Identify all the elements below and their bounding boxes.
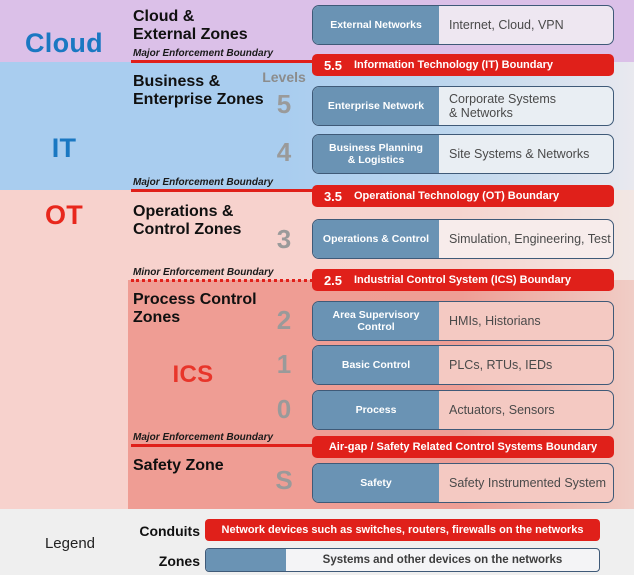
level-number-3: 3 — [255, 224, 313, 255]
conduit-label: Operational Technology (OT) Boundary — [354, 190, 559, 202]
conduit-label: Information Technology (IT) Boundary — [354, 59, 553, 71]
enforcement-label-ics-safety: Major Enforcement Boundary — [133, 432, 273, 443]
conduit-airgap-boundary[interactable]: Air-gap / Safety Related Control Systems… — [312, 436, 614, 458]
conduit-ot-boundary[interactable]: 3.5 Operational Technology (OT) Boundary — [312, 185, 614, 207]
legend-key-conduits: Conduits — [128, 523, 200, 539]
level-number-s: S — [255, 465, 313, 496]
conduit-ics-boundary[interactable]: 2.5 Industrial Control System (ICS) Boun… — [312, 269, 614, 291]
domain-label-ics: ICS — [128, 361, 258, 389]
domain-label-cloud: Cloud — [0, 28, 128, 59]
zone-box-key: Basic Control — [313, 346, 439, 384]
purdue-model-diagram: Cloud IT OT ICS Cloud &External Zones Bu… — [0, 0, 634, 575]
zone-box-process[interactable]: Process Actuators, Sensors — [312, 390, 614, 430]
conduit-number: 3.5 — [312, 189, 354, 204]
zone-box-safety[interactable]: Safety Safety Instrumented System — [312, 463, 614, 503]
enforcement-rule-ot-ics — [131, 279, 313, 282]
zone-box-enterprise-network[interactable]: Enterprise Network Corporate Systems& Ne… — [312, 86, 614, 126]
conduit-label: Industrial Control System (ICS) Boundary — [354, 274, 571, 286]
domain-label-it: IT — [0, 133, 128, 164]
legend-conduit-text: Network devices such as switches, router… — [222, 524, 584, 536]
domain-label-ot: OT — [0, 200, 128, 231]
zone-box-key: Area SupervisoryControl — [313, 302, 439, 340]
enforcement-rule-it-ot — [131, 189, 313, 192]
conduit-number: 2.5 — [312, 273, 354, 288]
enforcement-label-it-ot: Major Enforcement Boundary — [133, 177, 273, 188]
zone-box-value: Site Systems & Networks — [439, 135, 613, 173]
zone-box-key: Process — [313, 391, 439, 429]
zone-box-key: Business Planning& Logistics — [313, 135, 439, 173]
legend-conduit-bar: Network devices such as switches, router… — [205, 519, 600, 541]
zone-box-external-networks[interactable]: External Networks Internet, Cloud, VPN — [312, 5, 614, 45]
legend-zone-bar: Systems and other devices on the network… — [205, 548, 600, 572]
zone-box-value: Actuators, Sensors — [439, 391, 613, 429]
level-number-4: 4 — [255, 137, 313, 168]
zone-box-key: Enterprise Network — [313, 87, 439, 125]
zone-box-value: Corporate Systems& Networks — [439, 87, 613, 125]
zone-box-key: External Networks — [313, 6, 439, 44]
legend-title: Legend — [10, 535, 130, 552]
zone-box-area-supervisory-control[interactable]: Area SupervisoryControl HMIs, Historians — [312, 301, 614, 341]
conduit-it-boundary[interactable]: 5.5 Information Technology (IT) Boundary — [312, 54, 614, 76]
legend-zone-text: Systems and other devices on the network… — [286, 549, 599, 571]
zone-box-value: PLCs, RTUs, IEDs — [439, 346, 613, 384]
level-number-5: 5 — [255, 89, 313, 120]
legend-key-zones: Zones — [128, 553, 200, 569]
zone-box-value: Simulation, Engineering, Test — [439, 220, 613, 258]
enforcement-rule-ics-safety — [131, 444, 313, 447]
zone-box-basic-control[interactable]: Basic Control PLCs, RTUs, IEDs — [312, 345, 614, 385]
zone-box-key: Safety — [313, 464, 439, 502]
zone-box-operations-control[interactable]: Operations & Control Simulation, Enginee… — [312, 219, 614, 259]
conduit-number: 5.5 — [312, 58, 354, 73]
level-number-1: 1 — [255, 349, 313, 380]
legend-zone-swatch — [206, 549, 286, 571]
zone-box-business-planning-logistics[interactable]: Business Planning& Logistics Site System… — [312, 134, 614, 174]
level-number-0: 0 — [255, 394, 313, 425]
enforcement-label-ot-ics: Minor Enforcement Boundary — [133, 267, 274, 278]
zone-group-title-cloud-external: Cloud &External Zones — [133, 8, 283, 44]
enforcement-label-cloud-it: Major Enforcement Boundary — [133, 48, 273, 59]
conduit-label: Air-gap / Safety Related Control Systems… — [312, 441, 614, 453]
level-number-2: 2 — [255, 305, 313, 336]
zone-box-value: Safety Instrumented System — [439, 464, 613, 502]
levels-header: Levels — [255, 69, 313, 85]
zone-box-value: HMIs, Historians — [439, 302, 613, 340]
zone-box-value: Internet, Cloud, VPN — [439, 6, 613, 44]
zone-box-key: Operations & Control — [313, 220, 439, 258]
enforcement-rule-cloud-it — [131, 60, 313, 63]
